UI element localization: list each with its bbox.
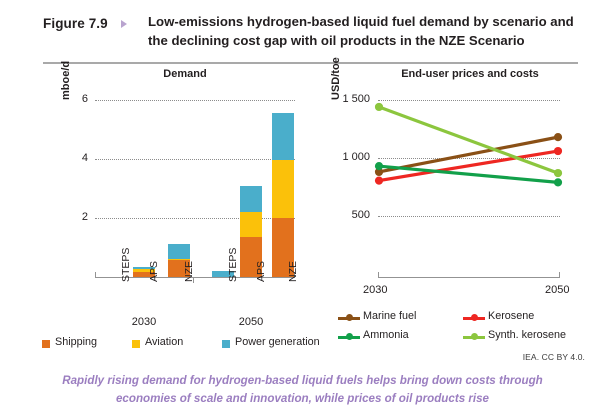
bar-legend-label: Shipping [55,336,97,348]
bar-legend-label: Power generation [235,336,320,348]
data-point-kerosene-2030 [375,177,383,185]
data-point-ammonia-2050 [554,178,562,186]
line-legend-label: Kerosene [488,310,534,322]
prices-line-chart: USD/toe 5001 0001 500 2030 2050 [0,0,605,330]
legend-dot-icon [471,314,478,321]
line-series-ammonia [379,166,558,182]
data-point-marine-fuel-2050 [554,133,562,141]
credit-text: IEA. CC BY 4.0. [523,352,585,362]
line-axis-cap-right [559,272,560,278]
figure-caption: Rapidly rising demand for hydrogen-based… [40,372,565,408]
line-series-synth-kerosene [379,107,558,173]
data-point-kerosene-2050 [554,147,562,155]
line-legend-label: Ammonia [363,329,409,341]
line-legend-label: Marine fuel [363,310,416,322]
line-legend-label: Synth. kerosene [488,329,566,341]
bar-legend-label: Aviation [145,336,183,348]
line-x-axis [378,277,560,278]
legend-swatch-icon [222,340,230,348]
legend-swatch-icon [132,340,140,348]
line-series-svg [0,0,605,330]
data-point-synth-kerosene-2030 [375,103,383,111]
line-x-tick-2050: 2050 [545,284,569,296]
data-point-ammonia-2030 [375,162,383,170]
legend-dot-icon [346,314,353,321]
data-point-synth-kerosene-2050 [554,169,562,177]
legend-swatch-icon [42,340,50,348]
line-x-tick-2030: 2030 [363,284,387,296]
line-axis-cap-left [378,272,379,278]
legend-dot-icon [346,333,353,340]
legend-dot-icon [471,333,478,340]
